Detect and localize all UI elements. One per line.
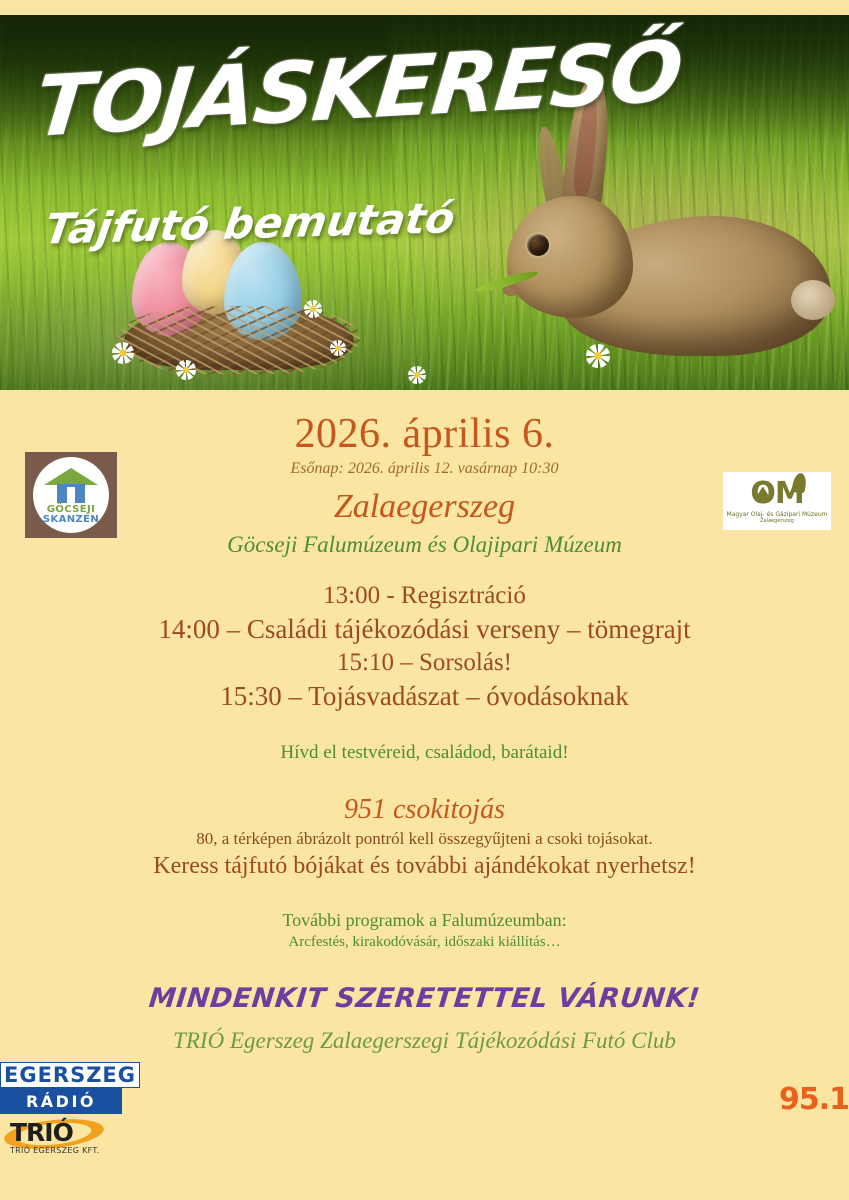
trio-name: TRIÓ bbox=[10, 1118, 73, 1147]
rabbit-tail bbox=[791, 280, 835, 320]
daisy-flower bbox=[330, 340, 346, 356]
radio-line2: RÁDIÓ bbox=[26, 1092, 96, 1111]
event-city: Zalaegerszeg bbox=[0, 488, 849, 525]
chocolate-egg-note: 80, a térképen ábrázolt pontról kell öss… bbox=[0, 829, 849, 849]
schedule-list: 13:00 - Regisztráció 14:00 – Családi táj… bbox=[0, 580, 849, 713]
daisy-flower bbox=[112, 342, 134, 364]
extra-programs-list: Arcfestés, kirakodóvásár, időszaki kiáll… bbox=[0, 934, 849, 951]
rain-date: Esőnap: 2026. április 12. vasárnap 10:30 bbox=[0, 460, 849, 478]
schedule-item: 14:00 – Családi tájékozódási verseny – t… bbox=[0, 612, 849, 647]
sponsor-bar: MAGYAR TÁJÉKOZÓDÁSI FUTÓ SZÖVETSÉG · 197… bbox=[0, 1062, 849, 1200]
radio-line1: EGERSZEG bbox=[4, 1063, 136, 1087]
poster-subtitle: Tájfutó bemutató bbox=[42, 197, 458, 250]
welcome-message: MINDENKIT SZERETETTEL VÁRUNK! bbox=[0, 983, 849, 1014]
nest-straw bbox=[118, 306, 360, 374]
daisy-flower bbox=[408, 366, 426, 384]
daisy-flower bbox=[304, 300, 322, 318]
trio-egerszeg-logo: TRIÓ TRIÓ EGERSZEG KFT. bbox=[0, 1114, 110, 1164]
radio-name-box: EGERSZEG bbox=[0, 1062, 140, 1088]
daisy-flower bbox=[176, 360, 196, 380]
poster-root: TOJÁSKERESŐ Tájfutó bemutató GÖCSEJI SKA… bbox=[0, 0, 849, 1200]
extra-programs-heading: További programok a Falumúzeumban: bbox=[0, 910, 849, 931]
daisy-flower bbox=[586, 344, 610, 368]
egerszeg-radio-logo: EGERSZEG RÁDIÓ 95.1 bbox=[0, 1062, 182, 1114]
poster-body: 2026. április 6. Esőnap: 2026. április 1… bbox=[0, 392, 849, 1054]
rabbit-eye bbox=[527, 234, 549, 256]
rabbit-head bbox=[507, 196, 633, 318]
radio-frequency: 95.1 bbox=[779, 1082, 849, 1117]
chocolate-egg-count: 951 csokitojás bbox=[0, 794, 849, 826]
schedule-item: 15:10 – Sorsolás! bbox=[0, 647, 849, 679]
trio-subtitle: TRIÓ EGERSZEG KFT. bbox=[10, 1146, 99, 1155]
hero-photo: TOJÁSKERESŐ Tájfutó bemutató bbox=[0, 15, 849, 390]
schedule-item: 15:30 – Tojásvadászat – óvodásoknak bbox=[0, 679, 849, 714]
organizer-club: TRIÓ Egerszeg Zalaegerszegi Tájékozódási… bbox=[0, 1028, 849, 1054]
invite-text: Hívd el testvéreid, családod, barátaid! bbox=[0, 742, 849, 764]
prize-call-to-action: Keress tájfutó bójákat és további ajándé… bbox=[0, 853, 849, 880]
event-venue: Göcseji Falumúzeum és Olajipari Múzeum bbox=[0, 532, 849, 558]
event-date: 2026. április 6. bbox=[0, 412, 849, 456]
schedule-item: 13:00 - Regisztráció bbox=[0, 580, 849, 612]
radio-word-box: RÁDIÓ bbox=[0, 1088, 122, 1114]
